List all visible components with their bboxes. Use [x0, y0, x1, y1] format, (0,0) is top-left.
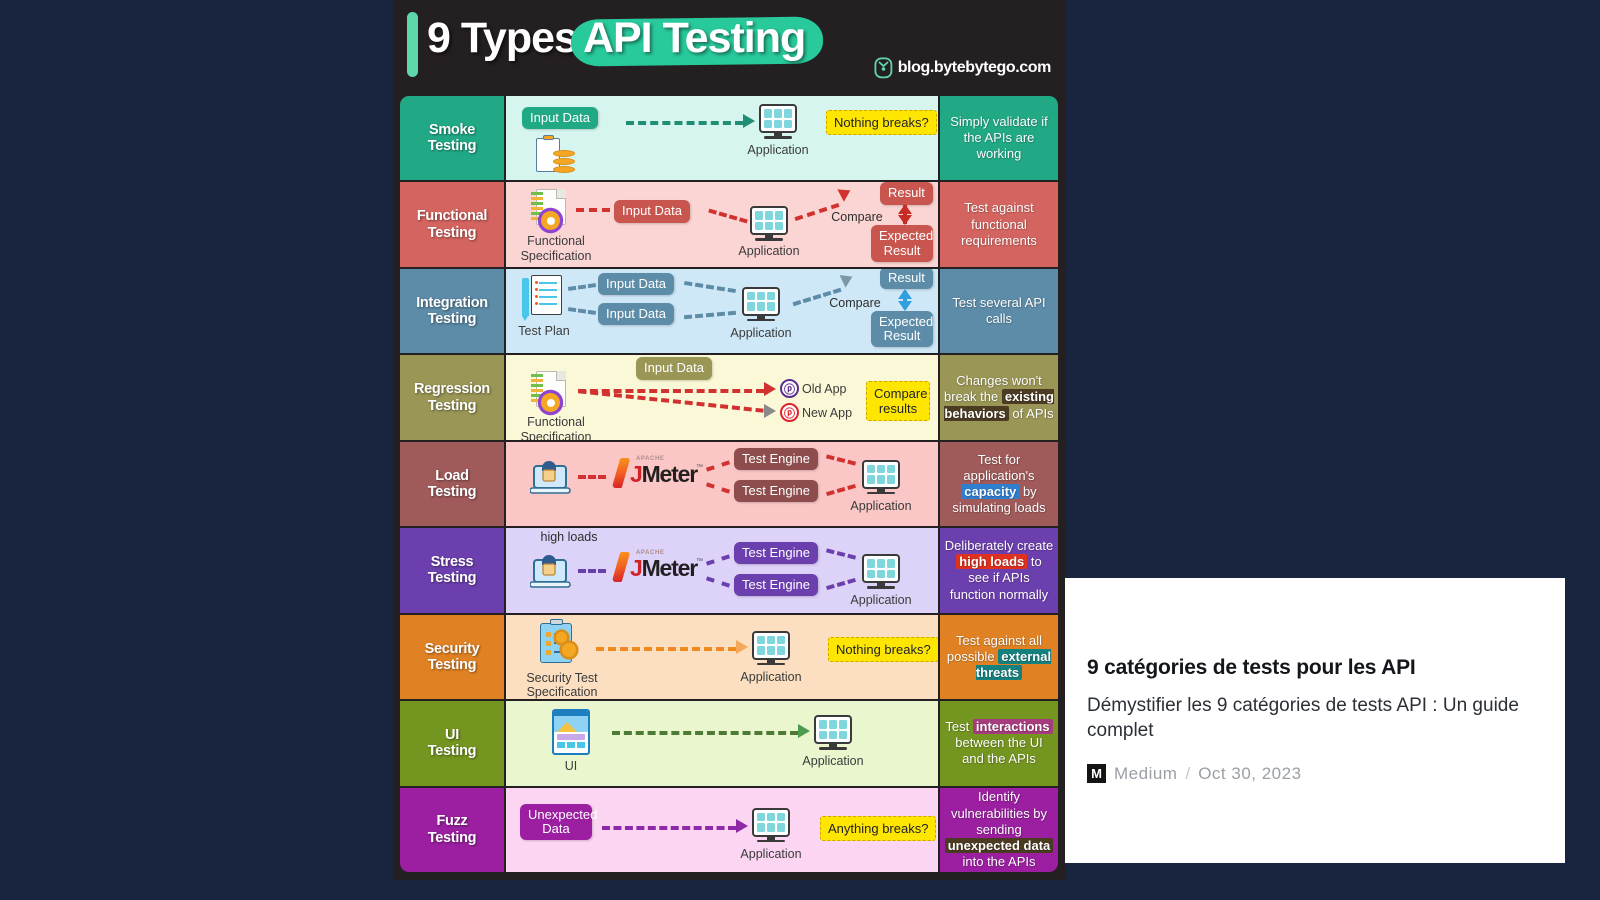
caption-high-loads: high loads: [524, 530, 614, 544]
caption-application: Application: [730, 244, 808, 258]
card-meta-separator: /: [1185, 764, 1190, 784]
caption-old-app: Old App: [802, 382, 860, 396]
chip-test-engine-2: Test Engine: [734, 480, 818, 502]
chip-unexpected-data: UnexpectedData: [520, 804, 592, 841]
laptop-lock-icon: [530, 548, 576, 590]
caption-compare: Compare: [824, 296, 886, 310]
flow-arrow: [578, 475, 606, 479]
compare-down-arrow-icon: [896, 204, 914, 226]
row-diagram-security: Security Test Specification Application …: [506, 615, 938, 699]
row-diagram-load: APACHE JMeter ™ Test Engine Test Engine …: [506, 442, 938, 526]
title-highlight-wrap: API Testing: [583, 14, 805, 63]
flow-arrowhead: [764, 382, 776, 396]
flow-arrow: [576, 208, 610, 212]
table-row: RegressionTesting Functional Specificati…: [400, 355, 1058, 439]
chip-result: Result: [880, 269, 933, 289]
application-monitor-icon: [742, 287, 780, 323]
row-diagram-smoke: Input Data Application Nothing breaks?: [506, 96, 938, 180]
caption-functional-spec: Functional Specification: [512, 415, 600, 439]
caption-application: Application: [732, 847, 810, 861]
card-source: Medium: [1114, 764, 1177, 784]
jmeter-feather-icon: [612, 458, 631, 488]
flow-arrowhead: [837, 185, 853, 203]
caption-application: Application: [740, 143, 816, 157]
flow-arrow: [578, 569, 606, 573]
row-desc-load: Test for application's capacity by simul…: [940, 442, 1058, 526]
chip-input-data-2: Input Data: [598, 303, 674, 325]
chip-input-data: Input Data: [636, 357, 712, 379]
application-monitor-icon: [752, 808, 790, 844]
jmeter-feather-icon: [612, 552, 631, 582]
laptop-lock-icon: [530, 454, 576, 496]
desc-highlight: high loads: [956, 554, 1027, 569]
application-monitor-icon: [752, 631, 790, 667]
card-meta: M Medium / Oct 30, 2023: [1087, 764, 1543, 784]
functional-spec-icon: [530, 189, 570, 233]
flow-arrow: [602, 826, 736, 830]
caption-ui: UI: [546, 759, 596, 773]
flow-arrowhead: [840, 270, 856, 287]
ui-window-icon: [552, 709, 590, 755]
row-desc-security: Test against all possible external threa…: [940, 615, 1058, 699]
desc-highlight: interactions: [973, 719, 1053, 734]
row-label-ui: UITesting: [400, 701, 504, 785]
compare-down-arrow-icon: [896, 290, 914, 312]
flow-arrow: [568, 307, 596, 315]
desc-highlight: capacity: [961, 484, 1019, 499]
watermark: blog.bytebytego.com: [874, 57, 1051, 79]
table-row: IntegrationTesting Test Plan Input Data …: [400, 269, 1058, 353]
chip-result: Result: [880, 182, 933, 204]
chip-test-engine-1: Test Engine: [734, 448, 818, 470]
application-monitor-icon: [862, 554, 900, 590]
row-label-regression: RegressionTesting: [400, 355, 504, 439]
table-row: FuzzTesting UnexpectedData Application A…: [400, 788, 1058, 872]
caption-application: Application: [842, 499, 920, 513]
flow-arrow: [826, 549, 856, 560]
flow-arrow: [626, 121, 743, 125]
chip-test-engine-2: Test Engine: [734, 574, 818, 596]
jmeter-meter: Meter: [642, 555, 697, 581]
row-label-smoke: SmokeTesting: [400, 96, 504, 180]
flow-arrow: [706, 482, 730, 493]
flow-arrow: [612, 731, 798, 735]
table-row: SecurityTesting Security Test Specificat…: [400, 615, 1058, 699]
flow-arrowhead: [764, 404, 776, 418]
flow-arrow: [708, 209, 748, 224]
jmeter-meter: Meter: [642, 461, 697, 487]
flow-arrow: [826, 578, 856, 590]
caption-functional-spec: Functional Specification: [512, 234, 600, 263]
caption-application: Application: [842, 593, 920, 607]
title-plain-text: 9 Types: [427, 14, 577, 63]
row-label-functional: FunctionalTesting: [400, 182, 504, 266]
yellow-note-nothing-breaks: Nothing breaks?: [828, 637, 938, 662]
title-highlight-text: API Testing: [583, 14, 805, 62]
test-plan-icon: [522, 275, 564, 321]
yellow-note-anything-breaks: Anything breaks?: [820, 816, 936, 841]
flow-arrow: [596, 647, 736, 651]
caption-security-spec: Security Test Specification: [510, 671, 614, 699]
table-row: SmokeTesting Input Data Application Noth…: [400, 96, 1058, 180]
jmeter-j: J: [630, 555, 642, 581]
card-title: 9 catégories de tests pour les API: [1087, 656, 1543, 680]
table-row: FunctionalTesting Functional Specificati…: [400, 182, 1058, 266]
application-monitor-icon: [862, 460, 900, 496]
flow-arrowhead: [798, 724, 810, 738]
caption-application: Application: [732, 670, 810, 684]
flow-arrow: [826, 454, 856, 465]
chip-input-data: Input Data: [522, 107, 598, 129]
table-row: UITesting UI Application Test interactio…: [400, 701, 1058, 785]
flow-arrow: [684, 281, 736, 293]
chip-input-data-1: Input Data: [598, 273, 674, 295]
api-testing-table: SmokeTesting Input Data Application Noth…: [400, 96, 1058, 872]
jmeter-tm: ™: [696, 558, 703, 565]
desc-highlight: unexpected data: [945, 838, 1054, 853]
old-app-icon: ⓟ: [780, 379, 799, 398]
row-diagram-fuzz: UnexpectedData Application Anything brea…: [506, 788, 938, 872]
yellow-note-nothing-breaks: Nothing breaks?: [826, 110, 937, 135]
clipboard-database-icon: [536, 136, 576, 178]
flow-arrow: [706, 460, 730, 471]
infographic-header: 9 Types API Testing blog.bytebytego.com: [393, 0, 1065, 96]
caption-test-plan: Test Plan: [512, 324, 576, 338]
security-spec-icon: [536, 623, 578, 667]
page-title: 9 Types API Testing: [427, 14, 805, 63]
chip-expected-result: ExpectedResult: [871, 225, 933, 262]
flow-arrowhead: [736, 819, 748, 833]
yellow-note-compare-results: Compareresults: [866, 381, 930, 421]
infographic-panel: 9 Types API Testing blog.bytebytego.com …: [393, 0, 1065, 880]
bytebytego-logo-icon: [874, 57, 893, 79]
chip-test-engine-1: Test Engine: [734, 542, 818, 564]
desc-highlight: existing behaviors: [944, 389, 1054, 420]
caption-application: Application: [794, 754, 872, 768]
row-desc-ui: Test interactions between the UI and the…: [940, 701, 1058, 785]
chip-input-data: Input Data: [614, 200, 690, 222]
row-label-integration: IntegrationTesting: [400, 269, 504, 353]
jmeter-tm: ™: [696, 464, 703, 471]
row-desc-fuzz: Identify vulnerabilities by sending unex…: [940, 788, 1058, 872]
row-diagram-regression: Functional Specification Input Data ⓟ Ol…: [506, 355, 938, 439]
card-date: Oct 30, 2023: [1198, 764, 1301, 784]
flow-arrowhead: [743, 114, 755, 128]
flow-arrow: [706, 577, 730, 588]
row-desc-functional: Test against functional requirements: [940, 182, 1058, 266]
flow-arrow: [568, 283, 596, 291]
row-label-stress: StressTesting: [400, 528, 504, 612]
row-diagram-ui: UI Application: [506, 701, 938, 785]
row-desc-integration: Test several API calls: [940, 269, 1058, 353]
caption-new-app: New App: [802, 406, 860, 420]
row-diagram-stress: high loads APACHE JMeter ™ Test Engine: [506, 528, 938, 612]
article-card[interactable]: 9 catégories de tests pour les API Démys…: [1065, 578, 1565, 863]
jmeter-j: J: [630, 461, 642, 487]
functional-spec-icon: [530, 371, 570, 415]
caption-application: Application: [722, 326, 800, 340]
row-label-security: SecurityTesting: [400, 615, 504, 699]
table-row: LoadTesting APACHE JMeter ™ Test Engi: [400, 442, 1058, 526]
flow-arrow: [826, 484, 856, 496]
jmeter-logo: APACHE JMeter ™: [610, 456, 702, 490]
row-desc-regression: Changes won't break the existing behavio…: [940, 355, 1058, 439]
row-label-fuzz: FuzzTesting: [400, 788, 504, 872]
accent-bar: [407, 12, 418, 77]
flow-arrow: [684, 311, 736, 320]
table-row: StressTesting high loads APACHE JMeter ™: [400, 528, 1058, 612]
row-desc-stress: Deliberately create high loads to see if…: [940, 528, 1058, 612]
chip-expected-result: ExpectedResult: [871, 311, 933, 348]
desc-highlight: external threats: [976, 649, 1051, 680]
application-monitor-icon: [814, 715, 852, 751]
row-label-load: LoadTesting: [400, 442, 504, 526]
application-monitor-icon: [750, 206, 788, 242]
flow-arrow: [706, 555, 730, 566]
watermark-text: blog.bytebytego.com: [898, 59, 1051, 77]
row-diagram-integration: Test Plan Input Data Input Data Applicat…: [506, 269, 938, 353]
row-desc-smoke: Simply validate if the APIs are working: [940, 96, 1058, 180]
medium-logo-icon: M: [1087, 764, 1106, 783]
card-subtitle: Démystifier les 9 catégories de tests AP…: [1087, 693, 1543, 744]
row-diagram-functional: Functional Specification Input Data Appl…: [506, 182, 938, 266]
new-app-icon: ⓟ: [780, 403, 799, 422]
application-monitor-icon: [759, 104, 797, 140]
flow-arrowhead: [736, 640, 748, 654]
caption-compare: Compare: [826, 210, 888, 224]
jmeter-logo: APACHE JMeter ™: [610, 550, 702, 584]
